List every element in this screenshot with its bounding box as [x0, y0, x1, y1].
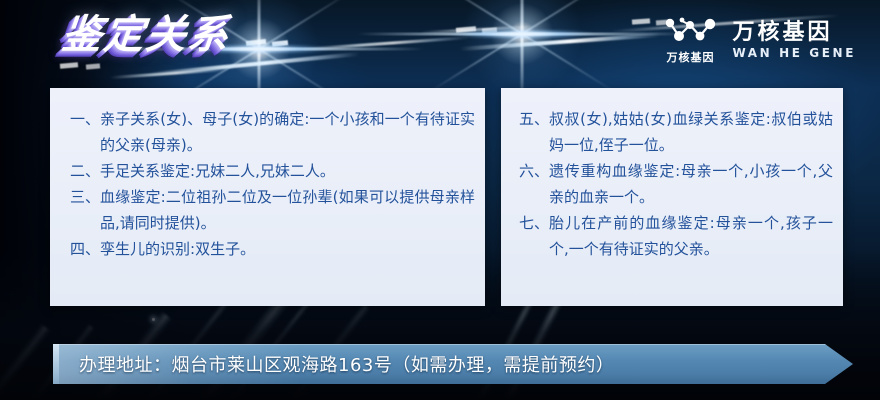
logo-mark-label: 万核基因	[666, 49, 714, 65]
content-panel-left: 一、 亲子关系(女)、母子(女)的确定:一个小孩和一个有待证实的父亲(母亲)。 …	[50, 88, 485, 306]
page-title: 鉴定关系	[60, 12, 233, 58]
list-item-text: 胎儿在产前的血缘鉴定:母亲一个,孩子一个,一个有待证实的父亲。	[549, 210, 833, 262]
list-item-marker: 一、	[60, 106, 100, 132]
logo-wordmark: 万核基因 WAN HE GENE	[732, 21, 856, 60]
list-item-marker: 三、	[60, 184, 100, 210]
list-item-text: 叔叔(女),姑姑(女)血绿关系鉴定:叔伯或姑妈一位,侄子一位。	[549, 106, 833, 158]
address-banner: 办理地址：烟台市莱山区观海路163号（如需办理，需提前预约）	[53, 344, 853, 384]
list-item-text: 孪生儿的识别:双生子。	[100, 236, 475, 262]
content-panel-right: 五、 叔叔(女),姑姑(女)血绿关系鉴定:叔伯或姑妈一位,侄子一位。 六、 遗传…	[501, 88, 843, 306]
list-item: 一、 亲子关系(女)、母子(女)的确定:一个小孩和一个有待证实的父亲(母亲)。	[60, 106, 475, 158]
logo-mark: 万核基因	[662, 16, 718, 65]
list-item-marker: 七、	[511, 210, 549, 236]
list-item: 五、 叔叔(女),姑姑(女)血绿关系鉴定:叔伯或姑妈一位,侄子一位。	[511, 106, 833, 158]
list-item-marker: 五、	[511, 106, 549, 132]
address-banner-edge	[53, 344, 59, 384]
relationship-list-left: 一、 亲子关系(女)、母子(女)的确定:一个小孩和一个有待证实的父亲(母亲)。 …	[60, 106, 475, 262]
relationship-list-right: 五、 叔叔(女),姑姑(女)血绿关系鉴定:叔伯或姑妈一位,侄子一位。 六、 遗传…	[511, 106, 833, 262]
list-item: 三、 血缘鉴定:二位祖孙二位及一位孙辈(如果可以提供母亲样品,请同时提供)。	[60, 184, 475, 236]
list-item-text: 手足关系鉴定:兄妹二人,兄妹二人。	[100, 158, 475, 184]
address-banner-text: 办理地址：烟台市莱山区观海路163号（如需办理，需提前预约）	[79, 344, 614, 384]
list-item-marker: 四、	[60, 236, 100, 262]
list-item-text: 亲子关系(女)、母子(女)的确定:一个小孩和一个有待证实的父亲(母亲)。	[100, 106, 475, 158]
molecule-node-icon	[662, 16, 718, 46]
list-item: 六、 遗传重构血缘鉴定:母亲一个,小孩一个,父亲的血亲一个。	[511, 158, 833, 210]
brand-logo: 万核基因 万核基因 WAN HE GENE	[662, 16, 856, 65]
list-item: 二、 手足关系鉴定:兄妹二人,兄妹二人。	[60, 158, 475, 184]
list-item-text: 血缘鉴定:二位祖孙二位及一位孙辈(如果可以提供母亲样品,请同时提供)。	[100, 184, 475, 236]
brand-name-en: WAN HE GENE	[732, 47, 856, 60]
list-item: 四、 孪生儿的识别:双生子。	[60, 236, 475, 262]
list-item-marker: 二、	[60, 158, 100, 184]
list-item-marker: 六、	[511, 158, 549, 184]
brand-name-cn: 万核基因	[732, 21, 856, 45]
slide-canvas: 鉴定关系 万核基因 万核基因 WAN HE GENE	[0, 0, 880, 400]
list-item-text: 遗传重构血缘鉴定:母亲一个,小孩一个,父亲的血亲一个。	[549, 158, 833, 210]
list-item: 七、 胎儿在产前的血缘鉴定:母亲一个,孩子一个,一个有待证实的父亲。	[511, 210, 833, 262]
